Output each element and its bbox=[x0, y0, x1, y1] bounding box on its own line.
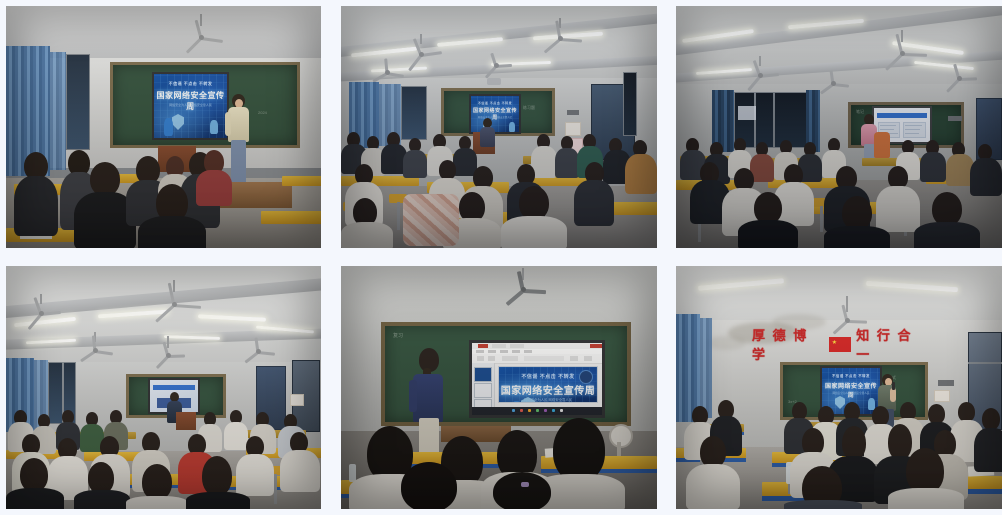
ceiling-fan-icon bbox=[940, 68, 978, 88]
photo-cell-5[interactable]: 复习 bbox=[341, 266, 657, 509]
slogan-right-text: 知 行 合 一 bbox=[856, 325, 928, 363]
slide-title: 国家网络安全宣传周 bbox=[499, 382, 597, 397]
student-desk bbox=[282, 176, 321, 186]
chalk-writing: 练习题 bbox=[523, 106, 535, 110]
helper bbox=[874, 132, 890, 158]
window-curtain bbox=[700, 318, 712, 418]
slide-kicker: 不信谣 不点击 不转发 bbox=[154, 81, 227, 87]
window-curtain bbox=[50, 52, 66, 170]
slide-title: 国家网络安全宣传周 bbox=[154, 90, 227, 112]
slogan-left-text: 厚 德 博 学 bbox=[752, 325, 824, 363]
photo-cell-2[interactable]: 练习题 不信谣 不点击 不转发 国家网络安全宣传周 网络安全为人民 网络安全靠人… bbox=[341, 6, 657, 248]
podium bbox=[176, 412, 196, 430]
powerpoint-slide: 不信谣 不点击 不转发 国家网络安全宣传周 网络安全为人民 网络安全靠人民 bbox=[498, 366, 598, 403]
photo-3-scene: 笔记 bbox=[676, 6, 1002, 248]
smartboard-screen: 不信谣 不点击 不转发 国家网络安全宣传周 网络安全为人民 网络安全靠人民 bbox=[469, 340, 605, 418]
ceiling-fan-icon bbox=[178, 24, 224, 50]
ceiling-fan-icon bbox=[20, 302, 62, 324]
projector bbox=[487, 78, 501, 85]
blanket bbox=[403, 194, 459, 246]
ceiling-fan-icon bbox=[816, 74, 850, 92]
ceiling-fan-icon bbox=[876, 40, 928, 66]
slide-title: 国家网络安全宣传周 bbox=[822, 381, 880, 399]
classroom-window bbox=[66, 54, 90, 150]
ceiling-fan-icon bbox=[537, 26, 583, 50]
ceiling-fan-icon bbox=[740, 64, 780, 86]
slide-kicker: 不信谣 不点击 不转发 bbox=[471, 101, 519, 105]
photo-1-scene: 2024 不信谣 不点击 不转发 国家网络安全宣传周 网络安全为人民 网络安全靠… bbox=[6, 6, 321, 248]
ceiling-fan-icon bbox=[146, 290, 202, 318]
photo-grid: 2024 不信谣 不点击 不转发 国家网络安全宣传周 网络安全为人民 网络安全靠… bbox=[0, 0, 1002, 515]
photo-4-scene bbox=[6, 266, 321, 509]
ceiling-fan-icon bbox=[399, 42, 443, 66]
smartboard-screen: 不信谣 不点击 不转发 国家网络安全宣传周 网络安全为人民 网络安全靠人民 bbox=[152, 72, 229, 140]
slide-kicker: 不信谣 不点击 不转发 bbox=[822, 373, 880, 378]
smartboard-screen: 不信谣 不点击 不转发 国家网络安全宣传周 网络安全为人民 网络安全靠人民 bbox=[469, 94, 521, 134]
classroom-window bbox=[401, 86, 427, 140]
photo-cell-3[interactable]: 笔记 bbox=[676, 6, 1002, 248]
chalk-writing: 2024 bbox=[258, 111, 267, 115]
wall-slogan: 厚 德 博 学 知 行 合 一 bbox=[752, 334, 928, 354]
china-flag-icon bbox=[829, 337, 851, 352]
ceiling-fan-icon bbox=[479, 56, 513, 74]
photo-cell-4[interactable] bbox=[6, 266, 321, 509]
photo-cell-6[interactable]: 厚 德 博 学 知 行 合 一 公式 3x+2 不信谣 不点击 不转发 国家网络… bbox=[676, 266, 1002, 509]
ceiling-fan-icon bbox=[369, 62, 405, 82]
slide-subtitle: 网络安全为人民 网络安全靠人民 bbox=[471, 115, 519, 119]
ceiling-fan-icon bbox=[499, 278, 547, 300]
wall-notice bbox=[290, 394, 304, 406]
photo-5-scene: 复习 bbox=[341, 266, 657, 509]
wall-notice bbox=[565, 122, 581, 136]
ceiling-fan-icon bbox=[150, 346, 186, 364]
photo-6-scene: 厚 德 博 学 知 行 合 一 公式 3x+2 不信谣 不点击 不转发 国家网络… bbox=[676, 266, 1002, 509]
student-desk bbox=[261, 211, 321, 224]
window-glare bbox=[738, 106, 756, 120]
hair-clip bbox=[521, 482, 529, 487]
photo-cell-1[interactable]: 2024 不信谣 不点击 不转发 国家网络安全宣传周 网络安全为人民 网络安全靠… bbox=[6, 6, 321, 248]
slide-subtitle: 网络安全为人民 网络安全靠人民 bbox=[154, 103, 227, 107]
wall-notice bbox=[934, 390, 950, 402]
classroom-window bbox=[623, 72, 637, 136]
fan-stand bbox=[609, 424, 633, 448]
classroom-window bbox=[774, 92, 810, 148]
microphone-icon bbox=[892, 382, 895, 390]
chalk-writing: 复习 bbox=[393, 334, 403, 340]
chalk-writing: 笔记 bbox=[856, 110, 864, 114]
slide-subtitle: 网络安全为人民 网络安全靠人民 bbox=[822, 391, 880, 395]
photo-2-scene: 练习题 不信谣 不点击 不转发 国家网络安全宣传周 网络安全为人民 网络安全靠人… bbox=[341, 6, 657, 248]
ceiling-fan-icon bbox=[240, 342, 276, 360]
ceiling-fan-icon bbox=[76, 340, 114, 360]
